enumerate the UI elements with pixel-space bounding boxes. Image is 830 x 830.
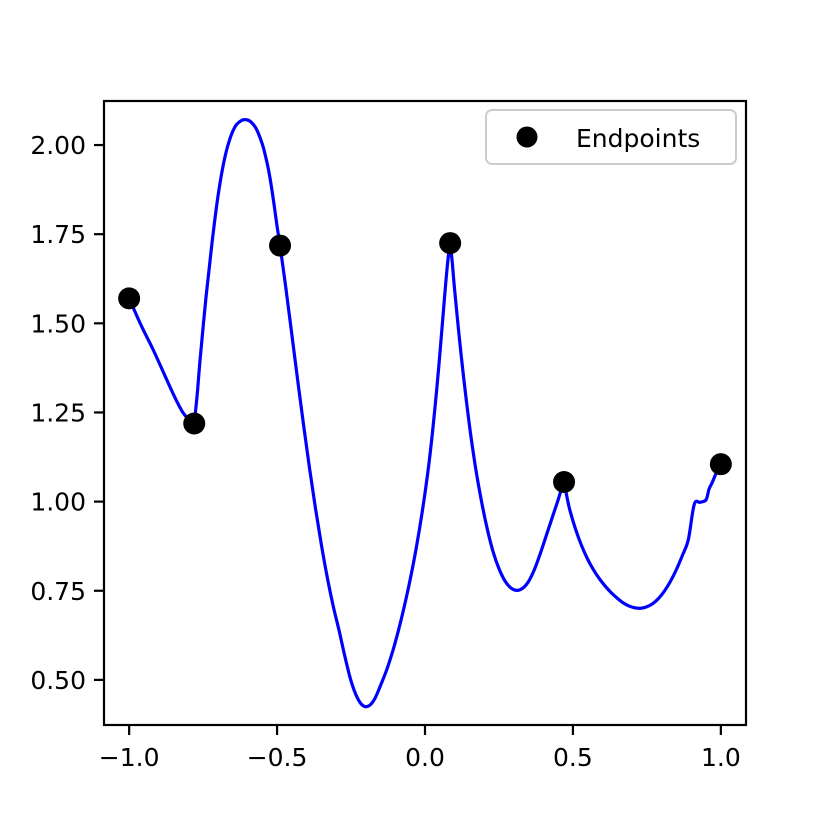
y-tick-label-6: 2.00 bbox=[30, 131, 86, 160]
endpoint-marker-5[interactable] bbox=[710, 453, 732, 475]
endpoint-marker-0[interactable] bbox=[118, 287, 140, 309]
x-tick-label-1: −0.5 bbox=[247, 743, 308, 772]
endpoint-marker-2[interactable] bbox=[269, 235, 291, 257]
endpoint-marker-1[interactable] bbox=[183, 413, 205, 435]
endpoint-marker-3[interactable] bbox=[439, 232, 461, 254]
chart-plot: −1.0−0.50.00.51.0 0.500.751.001.251.501.… bbox=[0, 0, 830, 830]
legend-label: Endpoints bbox=[576, 124, 700, 153]
x-tick-label-4: 1.0 bbox=[701, 743, 741, 772]
y-tick-label-0: 0.50 bbox=[30, 666, 86, 695]
legend-box[interactable]: Endpoints bbox=[486, 110, 736, 164]
axes-background bbox=[104, 101, 746, 725]
axes-frame bbox=[104, 101, 746, 725]
y-axis-tick-labels: 0.500.751.001.251.501.752.00 bbox=[30, 131, 86, 695]
x-tick-label-2: 0.0 bbox=[405, 743, 445, 772]
x-tick-label-0: −1.0 bbox=[99, 743, 160, 772]
x-tick-label-3: 0.5 bbox=[553, 743, 593, 772]
endpoint-marker-4[interactable] bbox=[553, 471, 575, 493]
y-tick-label-2: 1.00 bbox=[30, 488, 86, 517]
figure-canvas: −1.0−0.50.00.51.0 0.500.751.001.251.501.… bbox=[0, 0, 830, 830]
legend-circle-marker bbox=[517, 127, 538, 148]
y-tick-label-1: 0.75 bbox=[30, 577, 86, 606]
y-tick-label-4: 1.50 bbox=[30, 309, 86, 338]
y-axis-ticks bbox=[94, 145, 104, 680]
x-axis-ticks bbox=[129, 725, 721, 735]
y-tick-label-3: 1.25 bbox=[30, 398, 86, 427]
y-tick-label-5: 1.75 bbox=[30, 220, 86, 249]
x-axis-tick-labels: −1.0−0.50.00.51.0 bbox=[99, 743, 741, 772]
